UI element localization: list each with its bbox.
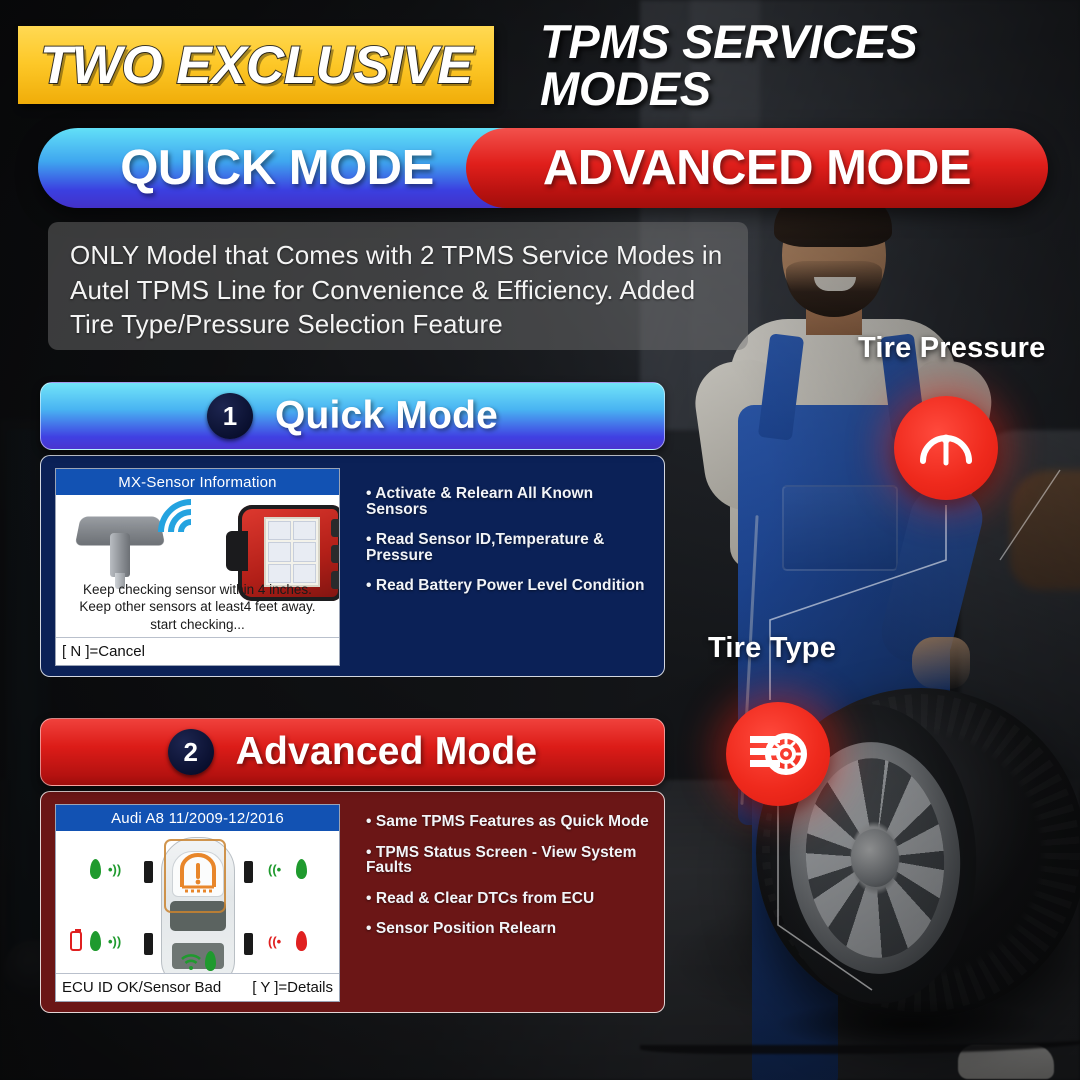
advanced-mode-card: 2 Advanced Mode Audi A8 11/2009-12/2016 (40, 718, 665, 1013)
sensor-status-rear-right (296, 931, 307, 951)
list-item: TPMS Status Screen - View System Faults (366, 845, 650, 876)
list-item: Read Sensor ID,Temperature & Pressure (366, 532, 650, 563)
device-screen-title-advanced: Audi A8 11/2009-12/2016 (56, 805, 339, 831)
tool-grip (226, 531, 248, 571)
spare-sensor-group (180, 951, 216, 971)
quick-mode-number-badge: 1 (207, 393, 253, 439)
sensor-status-rear-left (90, 931, 101, 951)
tpms-sensor-stem (110, 533, 130, 577)
banner-advanced-mode[interactable]: ADVANCED MODE (466, 128, 1048, 208)
advanced-mode-feature-list: Same TPMS Features as Quick Mode TPMS St… (350, 804, 650, 952)
lcd-cell (293, 564, 316, 583)
signal-icon-front-left: •)) (108, 863, 121, 876)
quick-mode-card-body: MX-Sensor Information (40, 455, 665, 677)
list-item: Read Battery Power Level Condition (366, 578, 650, 594)
sensor-status-spare (205, 951, 216, 971)
signal-wave-3 (144, 495, 237, 579)
headline: TWO EXCLUSIVE TPMS SERVICES MODES (0, 26, 1080, 104)
instruction-line: Keep checking sensor within 4 inches. (56, 581, 339, 598)
advanced-mode-card-body: Audi A8 11/2009-12/2016 (40, 791, 665, 1013)
device-footer-status: ECU ID OK/Sensor Bad (62, 979, 221, 996)
device-instruction-text: Keep checking sensor within 4 inches. Ke… (56, 581, 339, 633)
description-box: ONLY Model that Comes with 2 TPMS Servic… (48, 222, 748, 350)
advanced-mode-card-header[interactable]: 2 Advanced Mode (40, 718, 665, 786)
wheel-rear-right (244, 933, 253, 955)
lcd-cell (293, 542, 316, 561)
tire-type-wheel-icon (746, 726, 810, 782)
instruction-line: start checking... (56, 616, 339, 633)
sensor-status-front-right (296, 859, 307, 879)
vehicle-tpms-diagram: •)) ((• •)) ((• (56, 831, 339, 973)
device-footer-cancel[interactable]: [ N ]=Cancel (62, 643, 145, 660)
device-screen-content-quick: Keep checking sensor within 4 inches. Ke… (56, 495, 339, 637)
tire-type-label: Tire Type (708, 632, 836, 665)
device-footer-details[interactable]: [ Y ]=Details (252, 979, 333, 996)
signal-icon-front-right: ((• (268, 863, 281, 876)
tool-button-ok (331, 545, 339, 563)
headline-highlight-box: TWO EXCLUSIVE (18, 26, 494, 104)
tire-pressure-badge[interactable] (894, 396, 998, 500)
sensor-status-front-left (90, 859, 101, 879)
headline-subtitle: TPMS SERVICES MODES (540, 30, 1080, 100)
banner-advanced-mode-label: ADVANCED MODE (543, 140, 971, 196)
lcd-cell (268, 521, 291, 540)
signal-icon-rear-right: ((• (268, 935, 281, 948)
quick-mode-card: 1 Quick Mode MX-Sensor Information (40, 382, 665, 677)
device-screen-title-quick: MX-Sensor Information (56, 469, 339, 495)
tire-pressure-gauge-icon (915, 417, 977, 479)
tire-type-badge[interactable] (726, 702, 830, 806)
banner-quick-mode-label: QUICK MODE (120, 140, 434, 196)
advanced-mode-device-screen: Audi A8 11/2009-12/2016 (55, 804, 340, 1002)
quick-mode-feature-list: Activate & Relearn All Known Sensors Rea… (350, 468, 650, 609)
banner-quick-mode[interactable]: QUICK MODE (38, 128, 516, 208)
lcd-cell (268, 564, 291, 583)
list-item: Activate & Relearn All Known Sensors (366, 486, 650, 517)
quick-mode-device-screen: MX-Sensor Information (55, 468, 340, 666)
headline-highlight-text: TWO EXCLUSIVE (40, 39, 472, 92)
low-battery-icon (70, 931, 82, 951)
tire-pressure-label: Tire Pressure (858, 332, 1045, 365)
description-text: ONLY Model that Comes with 2 TPMS Servic… (70, 238, 726, 342)
quick-mode-card-header[interactable]: 1 Quick Mode (40, 382, 665, 450)
tool-lcd-screen (264, 517, 320, 587)
device-footer-quick: [ N ]=Cancel (56, 637, 339, 665)
list-item: Read & Clear DTCs from ECU (366, 891, 650, 907)
advanced-mode-number-badge: 2 (168, 729, 214, 775)
wheel-front-left (144, 861, 153, 883)
tpms-warning-icon (174, 853, 222, 897)
mode-banner: QUICK MODE ADVANCED MODE (38, 128, 1048, 208)
wheel-front-right (244, 861, 253, 883)
instruction-line: Keep other sensors at least4 feet away. (56, 598, 339, 615)
wheel-rear-left (144, 933, 153, 955)
list-item: Sensor Position Relearn (366, 921, 650, 937)
signal-icon-rear-left: •)) (108, 935, 121, 948)
tool-button-up (331, 519, 339, 537)
quick-mode-card-title: Quick Mode (275, 394, 498, 438)
wifi-icon (180, 953, 202, 971)
device-screen-content-advanced: •)) ((• •)) ((• (56, 831, 339, 973)
lcd-cell (293, 521, 316, 540)
advanced-mode-card-title: Advanced Mode (236, 730, 538, 774)
device-footer-advanced: ECU ID OK/Sensor Bad [ Y ]=Details (56, 973, 339, 1001)
list-item: Same TPMS Features as Quick Mode (366, 814, 650, 830)
lcd-cell (268, 542, 291, 561)
